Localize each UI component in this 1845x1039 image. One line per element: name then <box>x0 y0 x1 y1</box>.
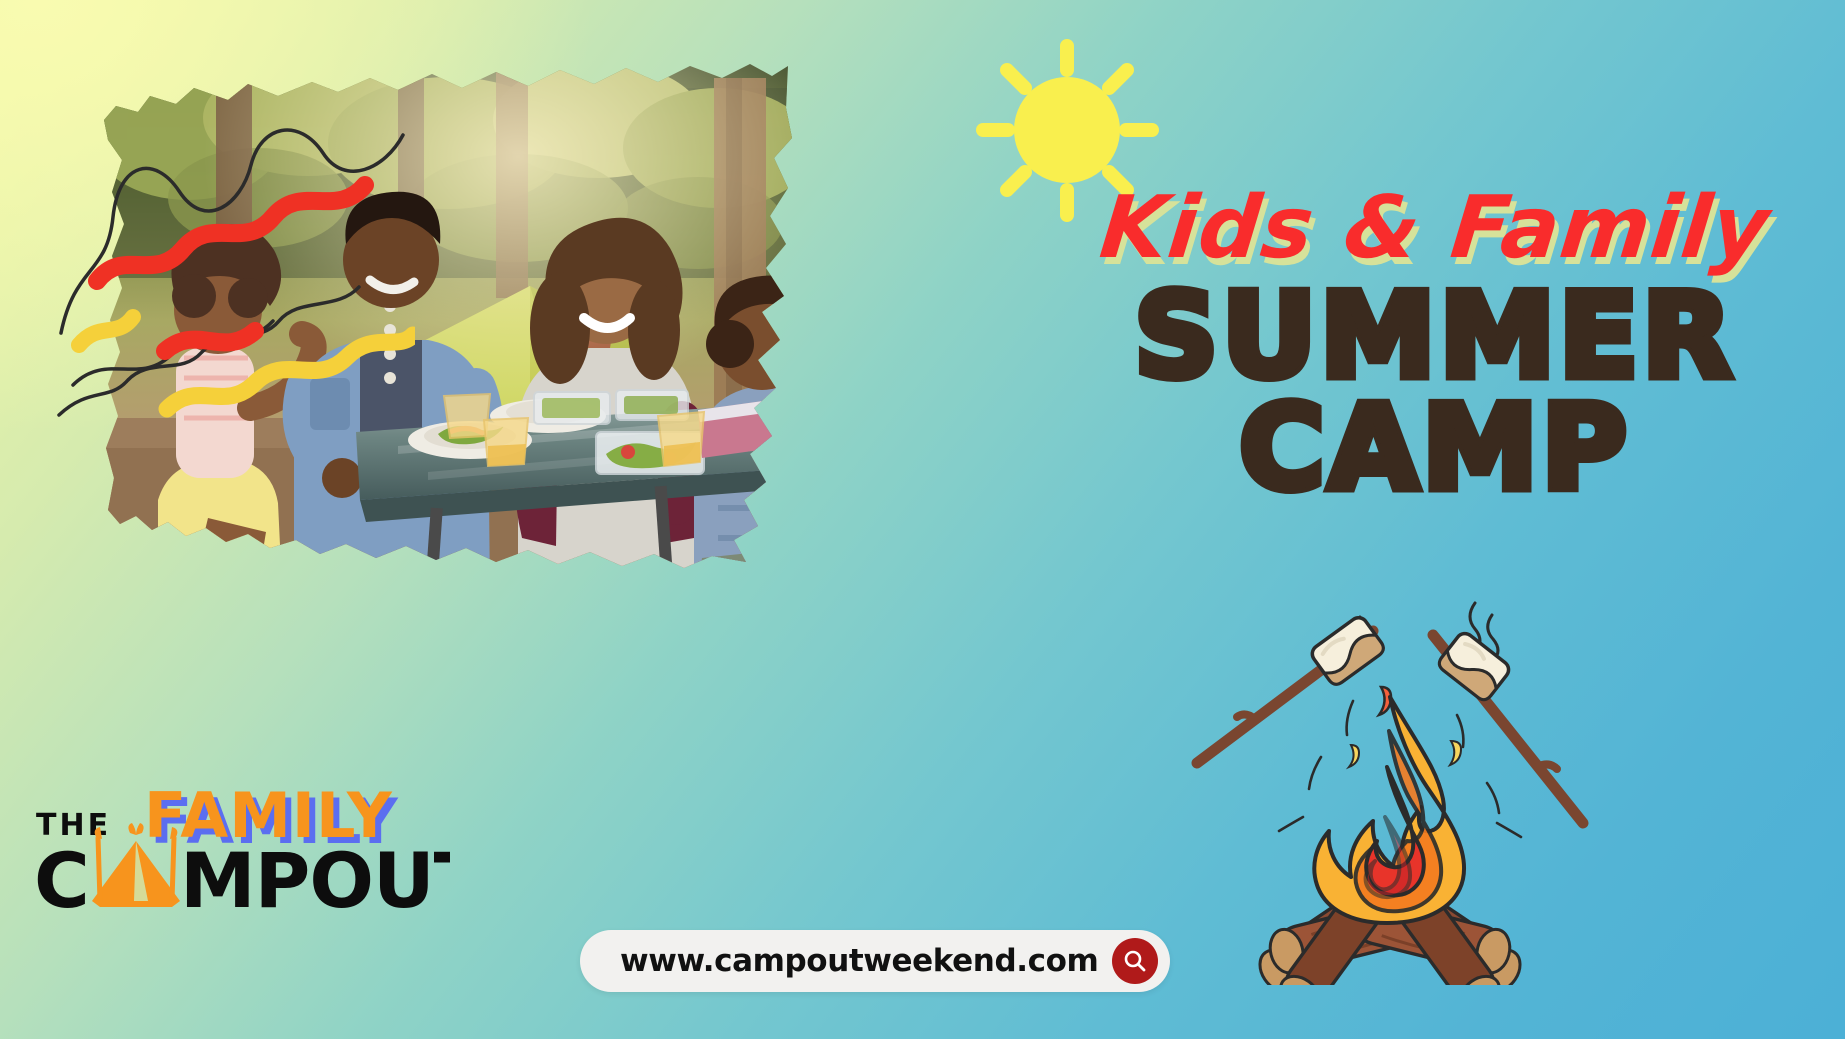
poster-canvas: Kids & Family SUMMER CAMP <box>0 0 1845 1039</box>
logo-campout-c: C <box>34 836 90 920</box>
logo-campout-rest: MPOUT <box>180 836 450 920</box>
search-button[interactable] <box>1112 938 1158 984</box>
headline-camp: CAMP <box>1085 396 1785 503</box>
website-url-text: www.campoutweekend.com <box>620 943 1098 979</box>
website-url-bar[interactable]: www.campoutweekend.com <box>580 930 1170 992</box>
search-icon <box>1122 948 1148 974</box>
brand-logo: FAMILY FAMILY THE C MPOUT <box>30 775 450 920</box>
campsite-photo <box>98 48 798 593</box>
headline-block: Kids & Family SUMMER CAMP <box>1085 188 1785 503</box>
headline-summer: SUMMER <box>1085 284 1785 391</box>
headline-kids-family: Kids & Family <box>1081 188 1790 270</box>
campfire-icon <box>1175 555 1605 985</box>
